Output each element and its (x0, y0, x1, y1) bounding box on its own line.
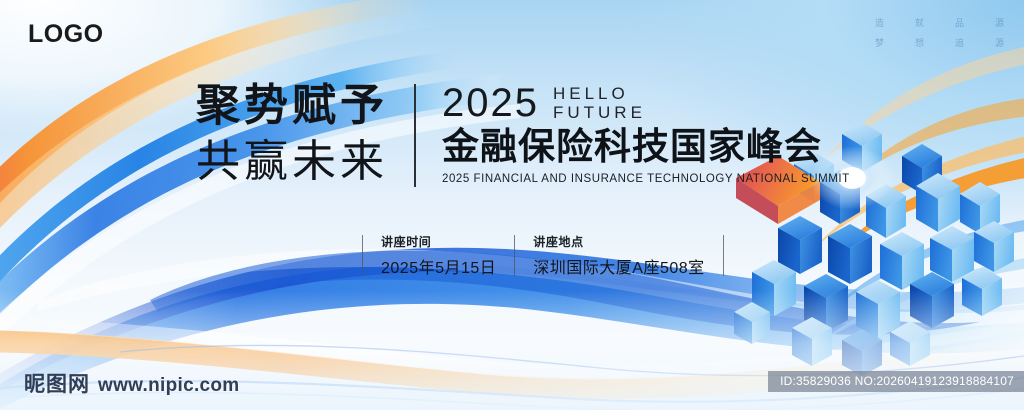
corner-word: 就 (914, 16, 926, 29)
info-divider (723, 235, 724, 276)
site-watermark: 昵图网 www.nipic.com (24, 368, 240, 398)
slogan-block: 聚势赋予 共赢未来 (196, 78, 414, 191)
corner-word: 梦 (874, 36, 886, 49)
info-label: 讲座时间 (381, 233, 496, 250)
corner-word: 品 (954, 16, 966, 29)
corner-word: 追 (954, 36, 966, 49)
headline-block: 聚势赋予 共赢未来 2025 HELLO FUTURE 金融保险科技国家峰会 2… (196, 78, 850, 191)
corner-word: 造 (874, 16, 886, 29)
info-label: 讲座地点 (533, 233, 704, 250)
future-line: FUTURE (553, 103, 646, 122)
year-and-hello-row: 2025 HELLO FUTURE (442, 83, 850, 123)
info-divider (362, 235, 363, 276)
corner-word: 源 (994, 36, 1006, 49)
site-name-cn: 昵图网 (24, 368, 90, 398)
slogan-line-1: 聚势赋予 (196, 78, 388, 134)
hello-future-text: HELLO FUTURE (553, 84, 646, 122)
brand-logo[interactable]: LOGO (28, 20, 104, 49)
asset-id-badge: ID:35829036 NO:20260419123918884107 (768, 371, 1024, 392)
slogan-line-2: 共赢未来 (196, 134, 388, 190)
hello-line: HELLO (553, 84, 646, 103)
corner-word: 想 (914, 36, 926, 49)
decorative-corner-words: 造 就 品 源 梦 想 追 源 (874, 16, 1006, 49)
corner-words-row-1: 造 就 品 源 (874, 16, 1006, 29)
event-info-strip: 讲座时间 2025年5月15日 讲座地点 深圳国际大厦A座508室 (362, 233, 724, 278)
event-title-english: 2025 FINANCIAL AND INSURANCE TECHNOLOGY … (442, 173, 850, 185)
corner-word: 源 (994, 16, 1006, 29)
event-year: 2025 (442, 83, 539, 123)
site-url: www.nipic.com (98, 375, 240, 397)
title-block: 2025 HELLO FUTURE 金融保险科技国家峰会 2025 FINANC… (416, 78, 850, 191)
info-item-location: 讲座地点 深圳国际大厦A座508室 (515, 233, 722, 278)
info-item-time: 讲座时间 2025年5月15日 (363, 233, 514, 278)
event-title-chinese: 金融保险科技国家峰会 (442, 125, 850, 169)
info-value: 深圳国际大厦A座508室 (533, 254, 704, 278)
info-divider (514, 235, 515, 276)
corner-words-row-2: 梦 想 追 源 (874, 36, 1006, 49)
event-poster: LOGO 造 就 品 源 梦 想 追 源 聚势赋予 共赢未来 2025 HELL… (0, 0, 1024, 410)
info-value: 2025年5月15日 (381, 254, 496, 278)
